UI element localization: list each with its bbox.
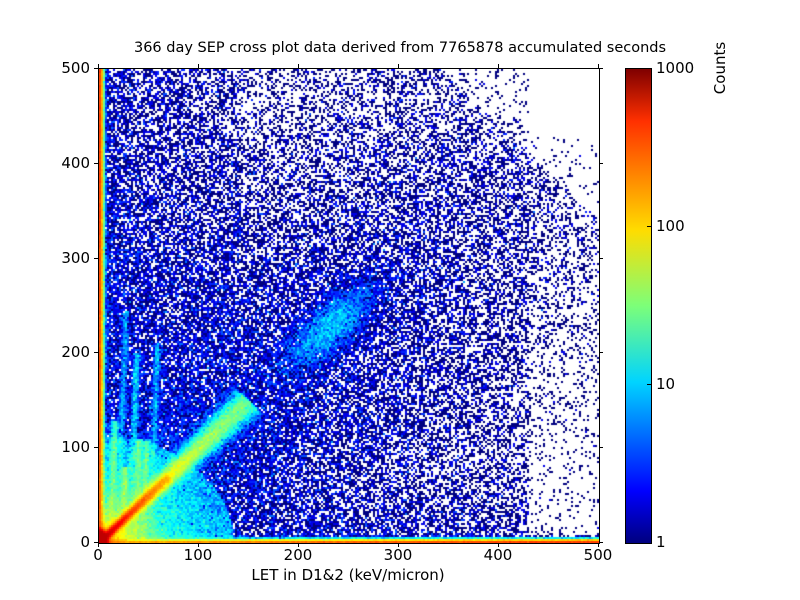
y-axis-tick-right (599, 447, 603, 448)
y-axis-tick-label: 400 (42, 154, 90, 172)
x-axis-tick-label: 500 (584, 546, 613, 564)
y-axis-tick-right (599, 542, 603, 543)
y-axis-tick-label: 0 (42, 533, 90, 551)
x-axis-tick-label: 200 (284, 546, 313, 564)
y-axis-tick-right (599, 68, 603, 69)
colorbar (625, 68, 652, 544)
x-axis-label: LET in D1&2 (keV/micron) (98, 566, 598, 584)
x-axis-tick-label: 300 (384, 546, 413, 564)
figure-canvas: 366 day SEP cross plot data derived from… (0, 0, 800, 600)
y-axis-tick-label: 300 (42, 249, 90, 267)
plot-title-line-1: 366 day SEP cross plot data derived from… (0, 40, 800, 57)
y-axis-tick-right (599, 163, 603, 164)
x-axis-tick-label: 400 (484, 546, 513, 564)
colorbar-tick (647, 226, 651, 227)
x-axis-tick-label: 0 (93, 546, 103, 564)
x-axis-tick-top (398, 64, 399, 68)
y-axis-tick-right (599, 352, 603, 353)
y-axis-tick-right (599, 258, 603, 259)
x-axis-tick-top (498, 64, 499, 68)
y-axis-tick (94, 542, 98, 543)
density-heatmap (99, 69, 599, 543)
colorbar-label: Counts (711, 0, 731, 305)
x-axis-tick-top (198, 64, 199, 68)
colorbar-tick-label: 1000 (656, 59, 694, 77)
x-axis-tick-top (298, 64, 299, 68)
colorbar-tick-label: 100 (656, 217, 685, 235)
colorbar-tick-label: 10 (656, 375, 675, 393)
y-axis-tick (94, 352, 98, 353)
x-axis-tick-label: 100 (184, 546, 213, 564)
y-axis-tick (94, 68, 98, 69)
y-axis-tick (94, 447, 98, 448)
x-axis-tick-top (98, 64, 99, 68)
y-axis-tick (94, 163, 98, 164)
plot-area (98, 68, 600, 544)
colorbar-tick-label: 1 (656, 533, 666, 551)
y-axis-tick-label: 200 (42, 343, 90, 361)
y-axis-tick (94, 258, 98, 259)
colorbar-tick (647, 384, 651, 385)
y-axis-tick-label: 500 (42, 59, 90, 77)
colorbar-gradient (626, 69, 651, 543)
y-axis-tick-label: 100 (42, 438, 90, 456)
